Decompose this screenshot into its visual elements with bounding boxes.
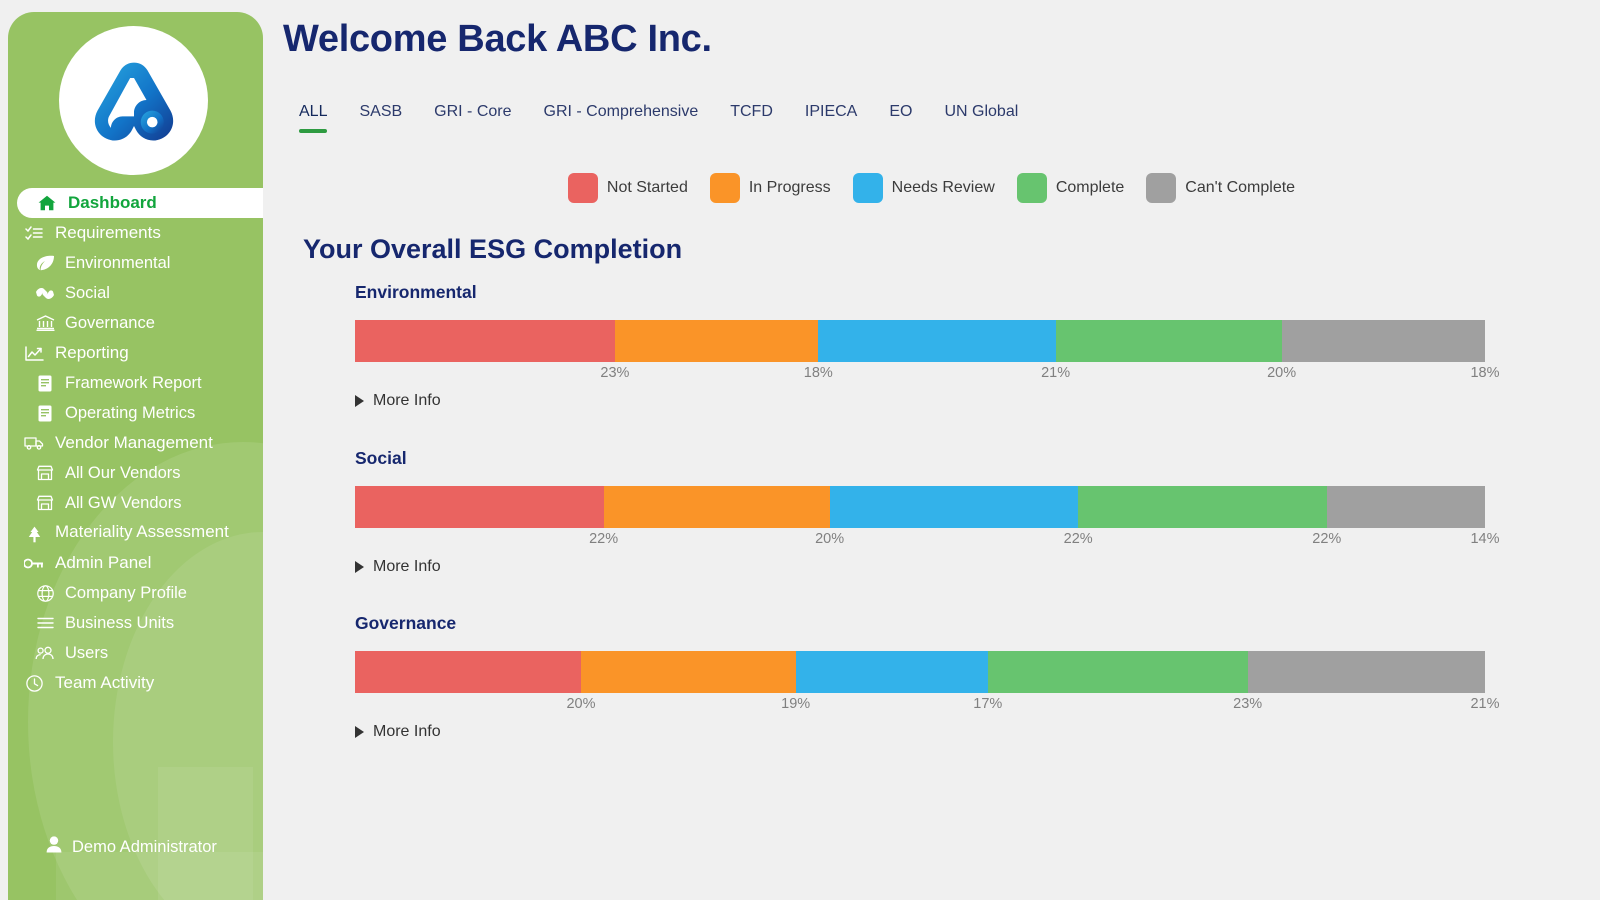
bar-segment-in-progress[interactable] bbox=[615, 320, 818, 362]
legend-label: Can't Complete bbox=[1185, 179, 1295, 197]
bar-tick-label: 20% bbox=[566, 696, 595, 712]
sidebar-user-name: Demo Administrator bbox=[72, 838, 217, 857]
dashboard-page: Dashboard Requirements Environmenta bbox=[0, 0, 1600, 900]
bar-segment-can-t-complete[interactable] bbox=[1282, 320, 1485, 362]
sidebar-item-label: Reporting bbox=[55, 343, 129, 363]
bar-segment-in-progress[interactable] bbox=[581, 651, 796, 693]
sidebar-nav: Dashboard Requirements Environmenta bbox=[8, 188, 263, 698]
globe-icon bbox=[34, 583, 56, 603]
more-info-toggle[interactable]: More Info bbox=[355, 558, 475, 576]
more-info-toggle[interactable]: More Info bbox=[355, 723, 475, 741]
sidebar-item-environmental[interactable]: Environmental bbox=[8, 248, 263, 278]
sidebar-item-label: Requirements bbox=[55, 223, 161, 243]
users-icon bbox=[34, 643, 56, 663]
sidebar-item-label: Business Units bbox=[65, 614, 174, 633]
chart-category-label: Environmental bbox=[355, 282, 1585, 303]
sidebar-item-requirements[interactable]: Requirements bbox=[8, 218, 263, 248]
bar-tick-labels: 20%19%17%23%21% bbox=[355, 693, 1485, 717]
triangle-right-icon bbox=[355, 726, 364, 738]
bar-tick-label: 23% bbox=[1233, 696, 1262, 712]
legend-label: Complete bbox=[1056, 179, 1124, 197]
checklist-icon bbox=[22, 223, 46, 243]
bar-segment-needs-review[interactable] bbox=[818, 320, 1055, 362]
tab-all[interactable]: ALL bbox=[283, 99, 343, 133]
aptitude-a-logo-icon bbox=[86, 53, 182, 149]
legend-label: In Progress bbox=[749, 179, 831, 197]
legend-item-needs-review[interactable]: Needs Review bbox=[853, 173, 995, 203]
legend-label: Needs Review bbox=[892, 179, 995, 197]
chart-category-label: Governance bbox=[355, 613, 1585, 634]
sidebar-item-materiality-assessment[interactable]: Materiality Assessment bbox=[8, 518, 263, 548]
stacked-bar bbox=[355, 651, 1485, 693]
bar-segment-needs-review[interactable] bbox=[830, 486, 1079, 528]
sidebar: Dashboard Requirements Environmenta bbox=[8, 12, 263, 900]
stacked-bar bbox=[355, 486, 1485, 528]
main-content: Welcome Back ABC Inc. ALLSASBGRI - CoreG… bbox=[263, 0, 1600, 900]
sidebar-item-label: Framework Report bbox=[65, 374, 202, 393]
bar-segment-needs-review[interactable] bbox=[796, 651, 988, 693]
sidebar-item-label: Vendor Management bbox=[55, 433, 213, 453]
legend-item-complete[interactable]: Complete bbox=[1017, 173, 1124, 203]
triangle-right-icon bbox=[355, 395, 364, 407]
sidebar-item-reporting[interactable]: Reporting bbox=[8, 338, 263, 368]
sidebar-item-operating-metrics[interactable]: Operating Metrics bbox=[8, 398, 263, 428]
section-title: Your Overall ESG Completion bbox=[303, 234, 682, 265]
bar-segment-can-t-complete[interactable] bbox=[1248, 651, 1485, 693]
bar-segment-complete[interactable] bbox=[1056, 320, 1282, 362]
document-icon bbox=[34, 403, 56, 423]
bar-tick-label: 21% bbox=[1041, 365, 1070, 381]
bar-tick-label: 18% bbox=[804, 365, 833, 381]
handshake-icon bbox=[34, 283, 56, 303]
sidebar-item-label: Company Profile bbox=[65, 584, 187, 603]
user-avatar-icon bbox=[46, 836, 62, 858]
sidebar-user[interactable]: Demo Administrator bbox=[8, 836, 263, 858]
bar-segment-complete[interactable] bbox=[1078, 486, 1327, 528]
bar-tick-label: 22% bbox=[1312, 531, 1341, 547]
store-icon bbox=[34, 463, 56, 483]
sidebar-item-label: Admin Panel bbox=[55, 553, 151, 573]
legend-swatch bbox=[1146, 173, 1176, 203]
page-title: Welcome Back ABC Inc. bbox=[283, 18, 712, 61]
sidebar-item-team-activity[interactable]: Team Activity bbox=[8, 668, 263, 698]
chart-block-governance: Governance20%19%17%23%21%More Info bbox=[355, 613, 1585, 741]
tab-gri-core[interactable]: GRI - Core bbox=[418, 99, 527, 133]
stacked-bar bbox=[355, 320, 1485, 362]
legend-label: Not Started bbox=[607, 179, 688, 197]
bar-tick-labels: 23%18%21%20%18% bbox=[355, 362, 1485, 386]
chart-line-icon bbox=[22, 343, 46, 363]
sidebar-item-label: All Our Vendors bbox=[65, 464, 181, 483]
sidebar-item-governance[interactable]: Governance bbox=[8, 308, 263, 338]
sidebar-decoration-band bbox=[158, 767, 253, 900]
sidebar-item-label: All GW Vendors bbox=[65, 494, 181, 513]
tab-tcfd[interactable]: TCFD bbox=[714, 99, 789, 133]
legend-item-in-progress[interactable]: In Progress bbox=[710, 173, 831, 203]
bar-tick-label: 20% bbox=[815, 531, 844, 547]
bank-icon bbox=[34, 313, 56, 333]
bar-tick-label: 17% bbox=[973, 696, 1002, 712]
sidebar-item-label: Social bbox=[65, 284, 110, 303]
bar-segment-can-t-complete[interactable] bbox=[1327, 486, 1485, 528]
home-icon bbox=[35, 193, 59, 213]
sidebar-item-dashboard[interactable]: Dashboard bbox=[17, 188, 263, 218]
bar-segment-not-started[interactable] bbox=[355, 651, 581, 693]
chart-block-social: Social22%20%22%22%14%More Info bbox=[355, 448, 1585, 576]
bar-segment-complete[interactable] bbox=[988, 651, 1248, 693]
bar-segment-not-started[interactable] bbox=[355, 320, 615, 362]
bar-tick-label: 22% bbox=[1064, 531, 1093, 547]
sidebar-item-social[interactable]: Social bbox=[8, 278, 263, 308]
chart-category-label: Social bbox=[355, 448, 1585, 469]
bar-tick-label: 18% bbox=[1470, 365, 1499, 381]
tab-eo[interactable]: EO bbox=[873, 99, 928, 133]
clock-icon bbox=[22, 673, 46, 693]
sidebar-item-all-gw-vendors[interactable]: All GW Vendors bbox=[8, 488, 263, 518]
leaf-icon bbox=[34, 253, 56, 273]
sidebar-item-company-profile[interactable]: Company Profile bbox=[8, 578, 263, 608]
bar-tick-labels: 22%20%22%22%14% bbox=[355, 528, 1485, 552]
bar-tick-label: 19% bbox=[781, 696, 810, 712]
more-info-label: More Info bbox=[373, 392, 441, 410]
truck-icon bbox=[22, 433, 46, 453]
status-legend: Not StartedIn ProgressNeeds ReviewComple… bbox=[263, 173, 1600, 203]
key-icon bbox=[22, 553, 46, 573]
sidebar-item-label: Team Activity bbox=[55, 673, 154, 693]
tab-sasb[interactable]: SASB bbox=[343, 99, 418, 133]
framework-tabs: ALLSASBGRI - CoreGRI - ComprehensiveTCFD… bbox=[283, 99, 1034, 133]
tab-ipieca[interactable]: IPIECA bbox=[789, 99, 873, 133]
sidebar-item-business-units[interactable]: Business Units bbox=[8, 608, 263, 638]
document-icon bbox=[34, 373, 56, 393]
legend-swatch bbox=[1017, 173, 1047, 203]
legend-swatch bbox=[568, 173, 598, 203]
sidebar-item-label: Materiality Assessment bbox=[55, 522, 229, 542]
app-logo[interactable] bbox=[59, 26, 208, 175]
sidebar-item-label: Governance bbox=[65, 314, 155, 333]
store-icon bbox=[34, 493, 56, 513]
sidebar-item-label: Environmental bbox=[65, 254, 170, 273]
tree-icon bbox=[22, 524, 46, 544]
sidebar-item-admin-panel[interactable]: Admin Panel bbox=[8, 548, 263, 578]
tab-gri-comprehensive[interactable]: GRI - Comprehensive bbox=[528, 99, 715, 133]
triangle-right-icon bbox=[355, 561, 364, 573]
more-info-label: More Info bbox=[373, 723, 441, 741]
legend-item-not-started[interactable]: Not Started bbox=[568, 173, 688, 203]
bar-tick-label: 20% bbox=[1267, 365, 1296, 381]
list-icon bbox=[34, 613, 56, 633]
bar-tick-label: 14% bbox=[1470, 531, 1499, 547]
bar-segment-in-progress[interactable] bbox=[604, 486, 830, 528]
more-info-toggle[interactable]: More Info bbox=[355, 392, 475, 410]
legend-swatch bbox=[853, 173, 883, 203]
sidebar-item-framework-report[interactable]: Framework Report bbox=[8, 368, 263, 398]
more-info-label: More Info bbox=[373, 558, 441, 576]
tab-un-global[interactable]: UN Global bbox=[928, 99, 1034, 133]
bar-tick-label: 22% bbox=[589, 531, 618, 547]
chart-block-environmental: Environmental23%18%21%20%18%More Info bbox=[355, 282, 1585, 410]
sidebar-item-users[interactable]: Users bbox=[8, 638, 263, 668]
legend-item-can-t-complete[interactable]: Can't Complete bbox=[1146, 173, 1295, 203]
bar-segment-not-started[interactable] bbox=[355, 486, 604, 528]
sidebar-item-all-our-vendors[interactable]: All Our Vendors bbox=[8, 458, 263, 488]
sidebar-item-label: Dashboard bbox=[68, 193, 157, 213]
sidebar-item-label: Operating Metrics bbox=[65, 404, 195, 423]
sidebar-item-vendor-management[interactable]: Vendor Management bbox=[8, 428, 263, 458]
bar-tick-label: 23% bbox=[600, 365, 629, 381]
sidebar-decoration-band-2 bbox=[56, 852, 263, 900]
legend-swatch bbox=[710, 173, 740, 203]
bar-tick-label: 21% bbox=[1470, 696, 1499, 712]
sidebar-item-label: Users bbox=[65, 644, 108, 663]
